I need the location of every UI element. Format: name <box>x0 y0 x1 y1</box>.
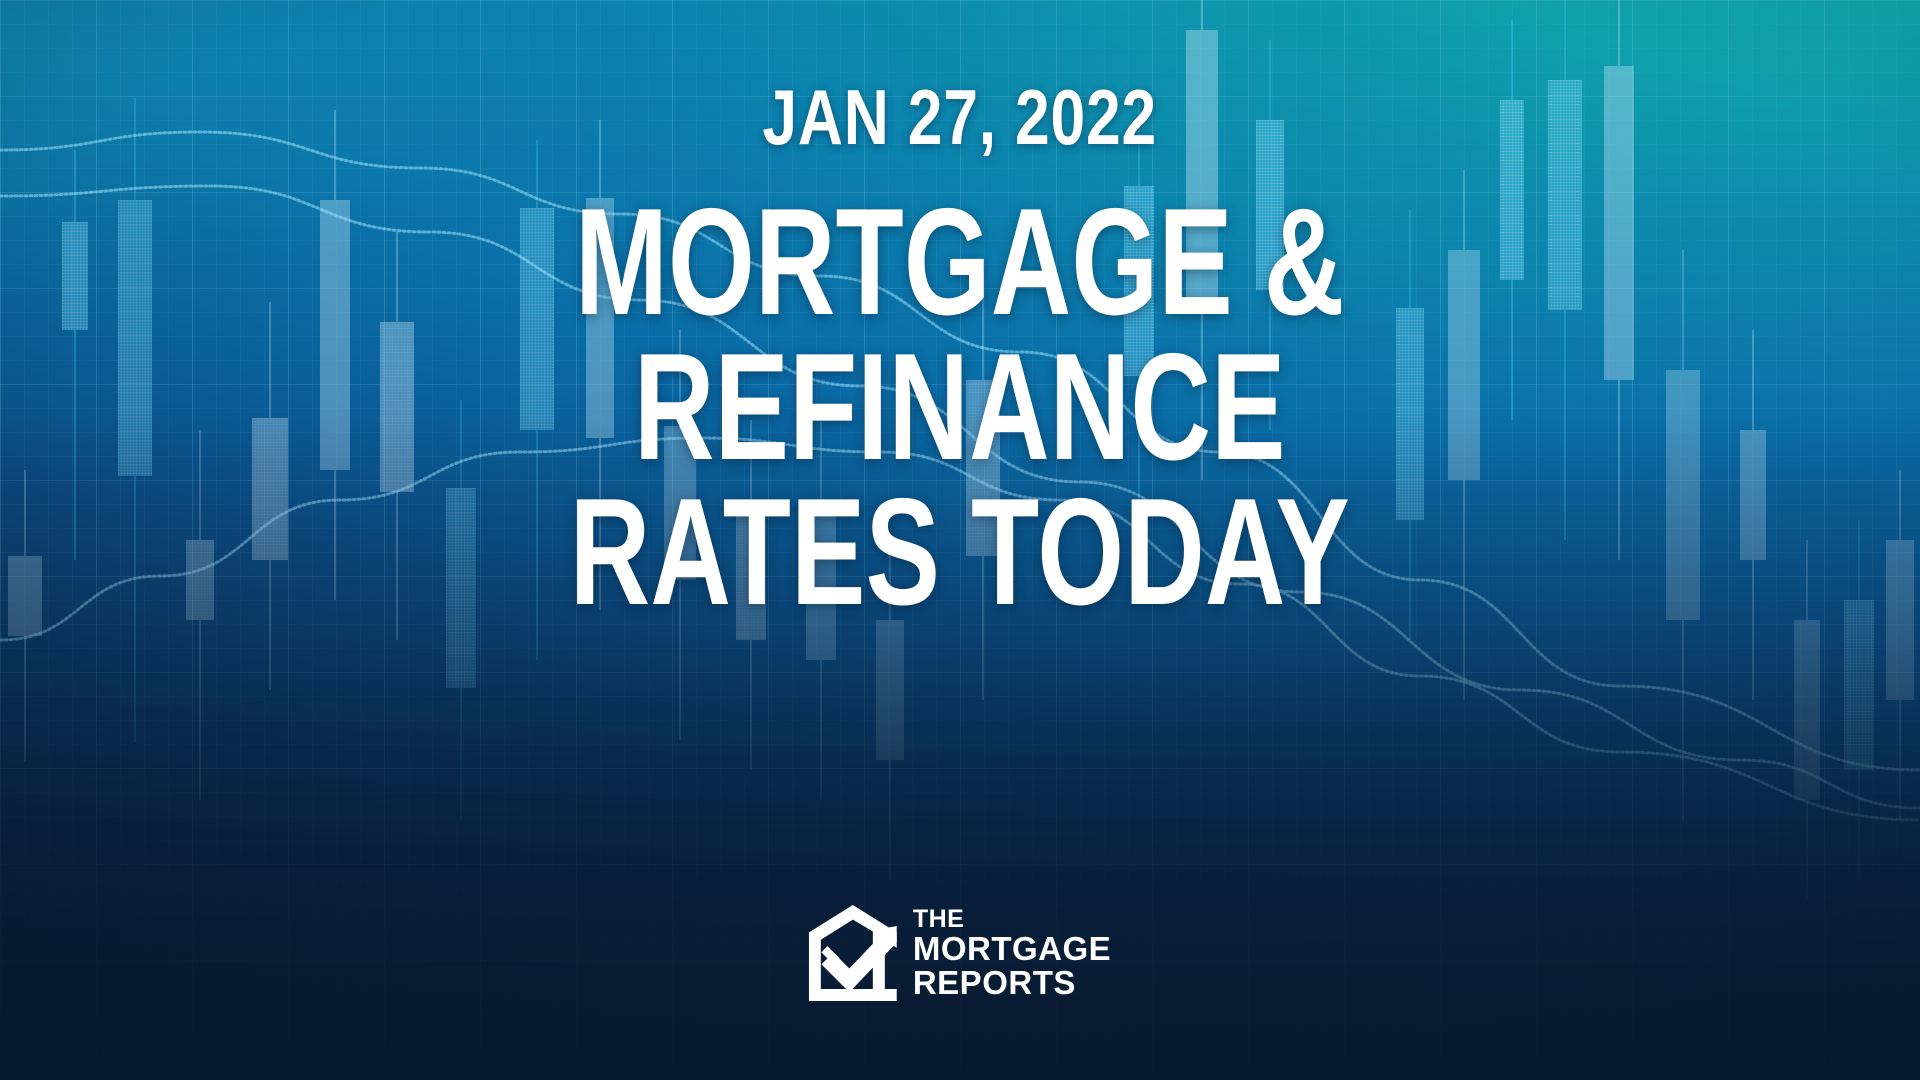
logo-line-mortgage: MORTGAGE <box>913 932 1111 966</box>
the-mortgage-reports-logo: THE MORTGAGE REPORTS <box>809 905 1111 1001</box>
banner-headline: MORTGAGE & REFINANCE RATES TODAY <box>429 190 1490 625</box>
banner-date: JAN 27, 2022 <box>763 78 1158 156</box>
house-check-logo-icon <box>809 905 897 1001</box>
logo-line-reports: REPORTS <box>913 966 1111 1000</box>
logo-line-the: THE <box>913 907 1111 933</box>
logo-wordmark: THE MORTGAGE REPORTS <box>913 907 1111 1000</box>
banner-graphic: JAN 27, 2022 MORTGAGE & REFINANCE RATES … <box>0 0 1920 1080</box>
headline-line-3: RATES TODAY <box>570 480 1350 625</box>
headline-line-1: MORTGAGE & <box>570 190 1350 335</box>
headline-line-2: REFINANCE <box>570 335 1350 480</box>
